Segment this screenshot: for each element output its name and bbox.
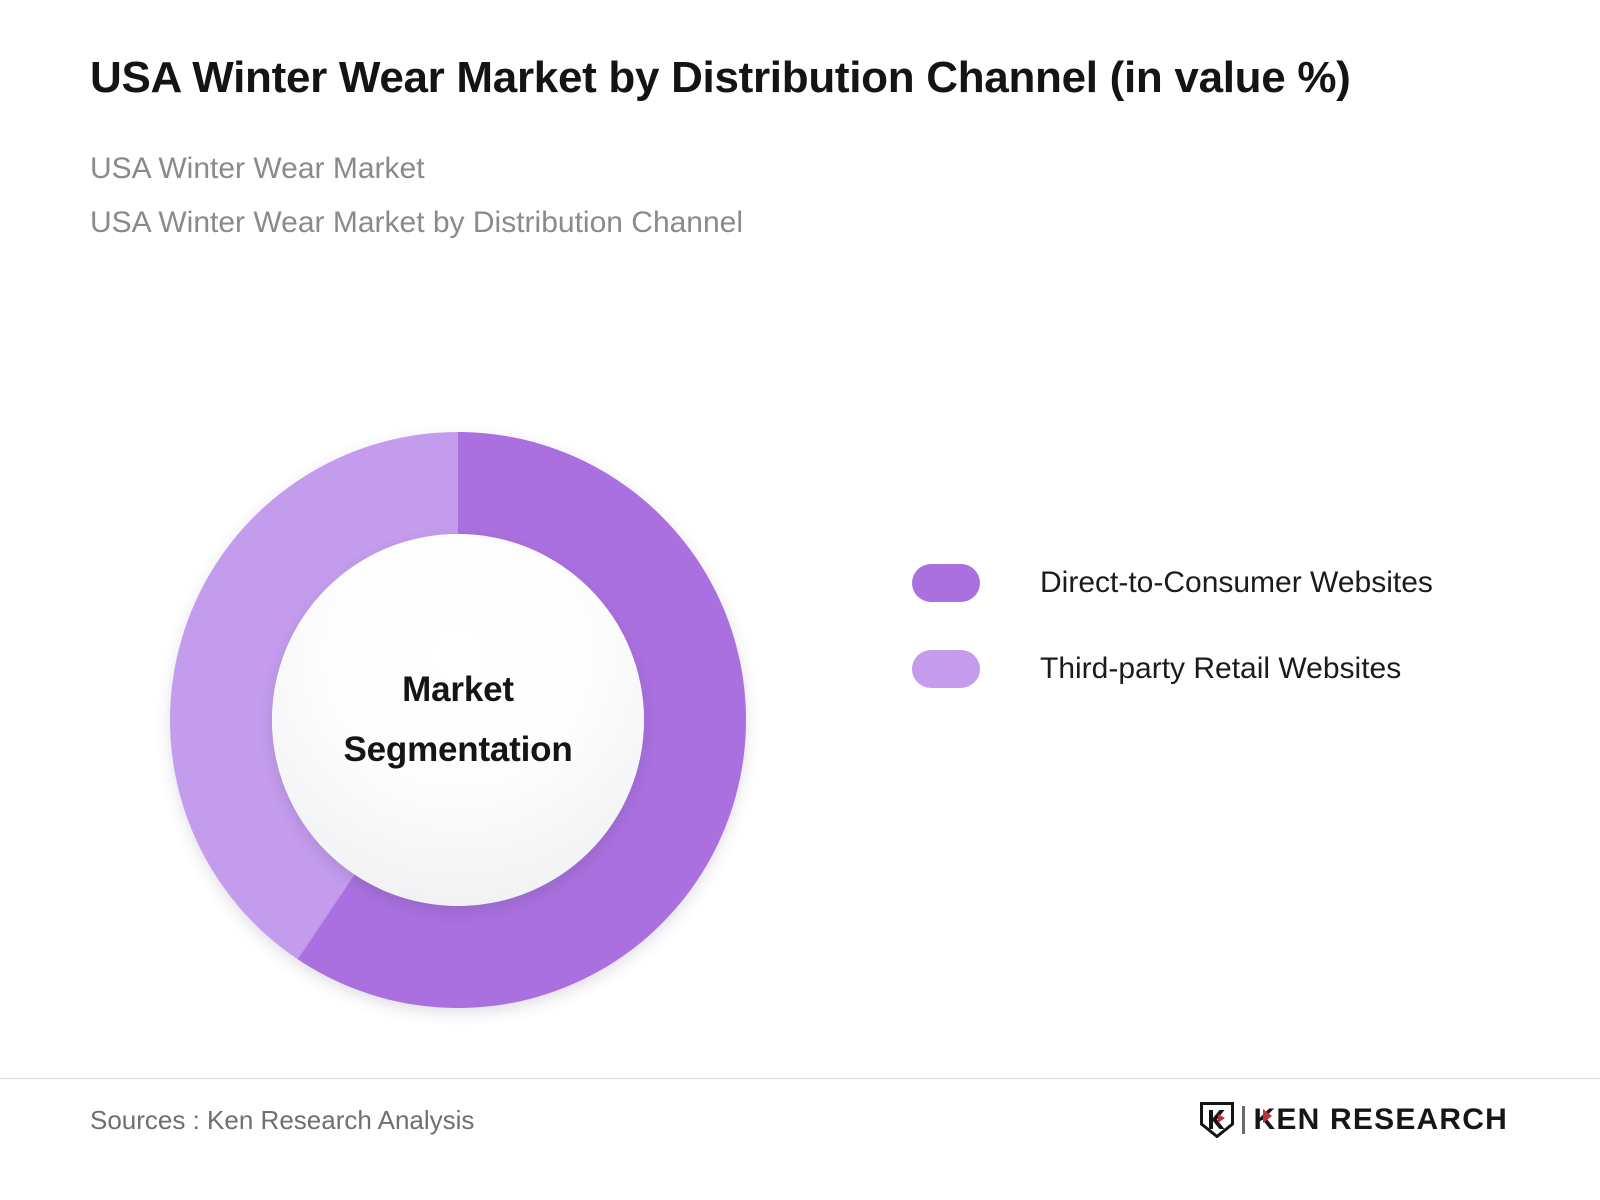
legend-item-third-party-retail-websites[interactable]: Third-party Retail Websites xyxy=(912,626,1552,712)
chart-page: USA Winter Wear Market by Distribution C… xyxy=(0,0,1600,1200)
donut-center-line-2: Segmentation xyxy=(343,720,572,780)
page-title: USA Winter Wear Market by Distribution C… xyxy=(90,48,1485,108)
logo-divider xyxy=(1242,1106,1245,1134)
donut-chart: Market Segmentation xyxy=(170,432,746,1008)
ken-research-shield-icon xyxy=(1200,1102,1234,1138)
legend-label: Direct-to-Consumer Websites xyxy=(1040,565,1433,601)
source-note: Sources : Ken Research Analysis xyxy=(90,1105,474,1136)
subtitle-line-1: USA Winter Wear Market xyxy=(90,142,1490,197)
subtitle-line-2: USA Winter Wear Market by Distribution C… xyxy=(90,196,1490,251)
donut-center-line-1: Market xyxy=(402,660,514,720)
subtitle-block: USA Winter Wear Market USA Winter Wear M… xyxy=(90,142,1490,251)
legend-swatch-icon xyxy=(912,564,980,602)
legend-item-direct-to-consumer-websites[interactable]: Direct-to-Consumer Websites xyxy=(912,540,1552,626)
footer: Sources : Ken Research Analysis KEN RESE… xyxy=(0,1079,1600,1200)
logo-wordmark: KEN RESEARCH xyxy=(1254,1103,1508,1137)
ken-research-logo: KEN RESEARCH xyxy=(1200,1101,1508,1139)
chart-legend: Direct-to-Consumer Websites Third-party … xyxy=(912,540,1552,712)
legend-swatch-icon xyxy=(912,650,980,688)
logo-wordmark-k: K xyxy=(1254,1103,1277,1137)
logo-wordmark-rest: EN RESEARCH xyxy=(1276,1103,1508,1137)
chart-area: Market Segmentation Direct-to-Consumer W… xyxy=(0,390,1600,1070)
header: USA Winter Wear Market by Distribution C… xyxy=(90,48,1490,251)
donut-center-label: Market Segmentation xyxy=(272,534,644,906)
legend-label: Third-party Retail Websites xyxy=(1040,651,1401,687)
